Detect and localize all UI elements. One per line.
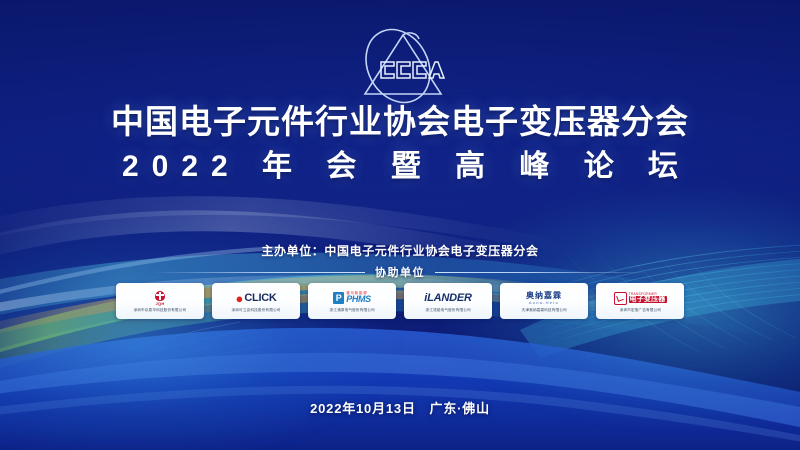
sponsor-card-phms[interactable]: P 普乐新能源 PHMS 浙江涌原电气股份有限公司 [308,283,396,319]
divider-rule-left [153,272,365,273]
phms-logo-icon: P 普乐新能源 PHMS [310,290,394,307]
transformer-logo-cn: 电子变压器 [629,296,667,303]
host-organizer-label: 主办单位：中国电子元件行业协会电子变压器分会 [0,242,800,259]
aona-hero-logo-icon: 奥纳嘉霖 Aona-Hero [502,290,586,307]
sponsor-card-aona-hero[interactable]: 奥纳嘉霖 Aona-Hero 天津奥纳嘉霖科技有限公司 [500,283,588,319]
click-logo-icon: ● CLICK [214,290,298,307]
sponsor-caption: 深圳市宏惠广告有限公司 [619,307,660,312]
sponsor-logo-row: JQH 深圳市京泉华科技股份有限公司 ● CLICK 深圳可立克科技股份有限公司 [0,283,800,319]
event-date-location: 2022年10月13日 广东·佛山 [0,398,800,417]
divider-rule-right [435,272,647,273]
assist-units-label: 协助单位 [375,264,425,280]
sponsor-card-transformer[interactable]: TRANSFORMER 电子变压器 深圳市宏惠广告有限公司 [596,283,684,319]
sponsor-card-jqh[interactable]: JQH 深圳市京泉华科技股份有限公司 [116,283,204,319]
ilander-logo-text: iLANDER [424,293,472,304]
poster-canvas: CECA 中国电子元件行业协会电子变压器分会 2022 年 会 暨 高 峰 论 … [0,0,800,450]
assist-divider: 协助单位 [0,264,800,280]
click-logo-text: CLICK [244,293,276,304]
transformer-logo-icon: TRANSFORMER 电子变压器 [598,290,682,307]
page-subtitle: 2022 年 会 暨 高 峰 论 坛 [0,150,800,183]
sponsor-caption: 浙江涌原电气股份有限公司 [329,307,374,312]
ceca-emblem-icon: CECA [345,22,455,108]
jqh-logo-icon: JQH [118,290,202,307]
sponsor-caption: 深圳可立克科技股份有限公司 [232,307,281,312]
sponsor-caption: 深圳市京泉华科技股份有限公司 [134,307,187,312]
page-title: 中国电子元件行业协会电子变压器分会 [0,104,800,141]
sponsor-caption: 浙江钱能电气股份有限公司 [425,307,470,312]
phms-logo-text: PHMS [346,295,370,304]
ilander-logo-icon: iLANDER [406,290,490,307]
aona-logo-en: Aona-Hero [529,301,559,305]
sponsor-card-click[interactable]: ● CLICK 深圳可立克科技股份有限公司 [212,283,300,319]
sponsor-card-ilander[interactable]: iLANDER 浙江钱能电气股份有限公司 [404,283,492,319]
poster-content: CECA 中国电子元件行业协会电子变压器分会 2022 年 会 暨 高 峰 论 … [0,0,800,450]
aona-logo-cn: 奥纳嘉霖 [526,292,562,300]
title-block: 中国电子元件行业协会电子变压器分会 2022 年 会 暨 高 峰 论 坛 [0,104,800,183]
jqh-logo-text: JQH [155,302,164,306]
sponsor-caption: 天津奥纳嘉霖科技有限公司 [521,307,566,312]
